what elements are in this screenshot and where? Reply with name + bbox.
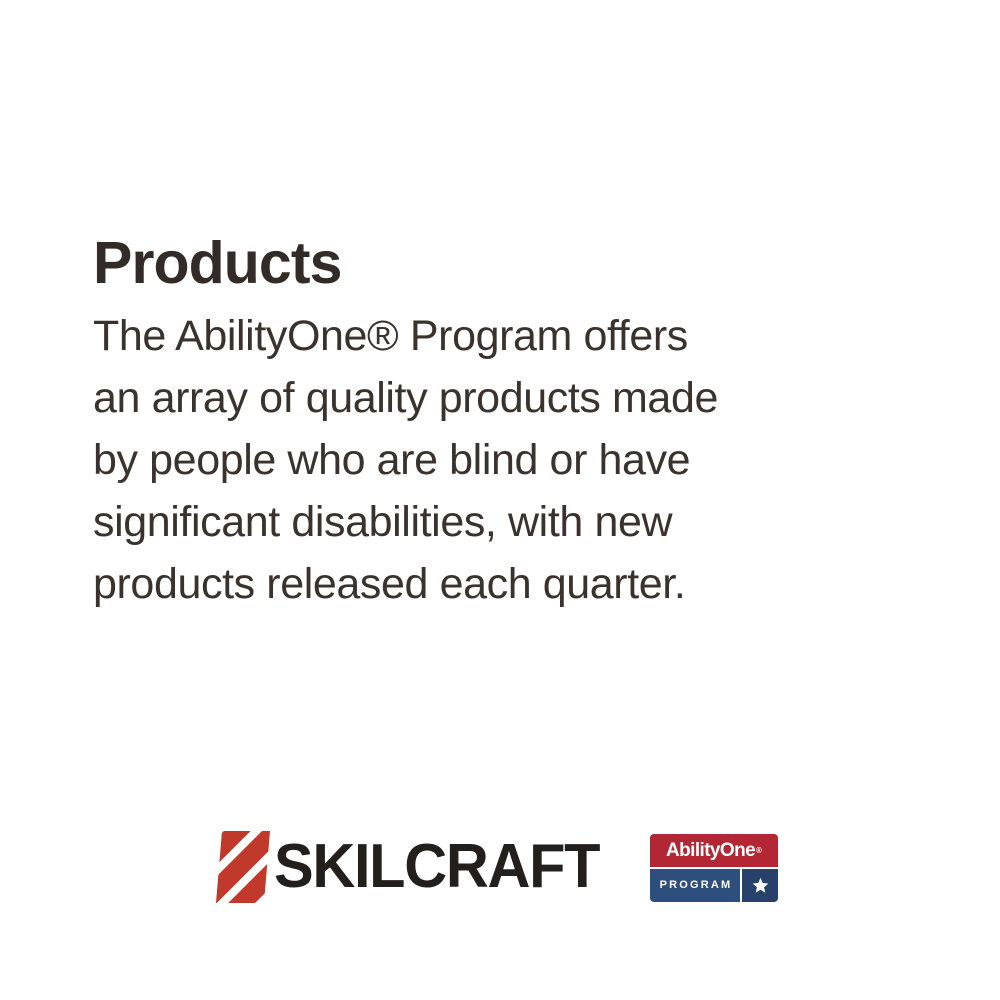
abilityone-program-label: PROGRAM [658,880,733,891]
body-paragraph: The AbilityOne® Program offers an array … [93,305,883,615]
body-line-1: The AbilityOne® Program offers [93,305,883,367]
stripe-blue [0,0,33,33]
skilcraft-wordmark: SKILCRAFT [274,836,599,898]
stripe-gap-1 [0,0,76,76]
abilityone-top-band: AbilityOne® [650,834,778,867]
abilityone-logo: AbilityOne® PROGRAM [650,834,778,902]
star-icon [752,877,769,894]
body-line-2: an array of quality products made [93,367,883,429]
abilityone-program-band: PROGRAM [650,869,740,902]
page-title: Products [93,232,342,296]
body-line-3: by people who are blind or have [93,429,883,491]
stripe-red-3 [0,0,150,150]
abilityone-star-box [740,869,778,902]
body-line-4: significant disabilities, with new [93,491,883,553]
abilityone-bottom-band: PROGRAM [650,869,778,902]
skilcraft-diagonal-stripes-mark [216,831,270,903]
skilcraft-logo: SKILCRAFT [216,826,613,908]
stripe-red-1 [0,0,64,64]
slide-canvas: Products The AbilityOne® Program offers … [0,0,1000,1000]
stripe-gap-3 [0,0,260,260]
stripe-gap-2 [0,0,119,119]
body-line-5: products released each quarter. [93,553,883,615]
stripe-red-2 [0,0,107,107]
diagonal-flag-stripes-decoration [0,0,260,260]
registered-mark: ® [756,846,762,855]
logo-row: SKILCRAFT AbilityOne® PROGRAM [0,818,1000,918]
abilityone-wordmark: AbilityOne [666,841,755,860]
